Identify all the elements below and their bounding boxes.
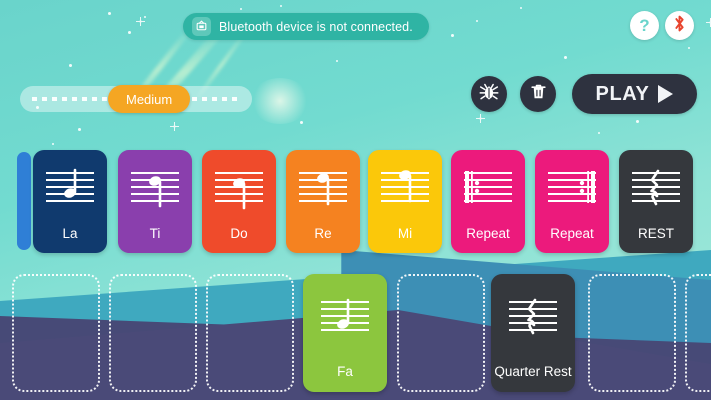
play-triangle-icon [658, 85, 673, 103]
sparkle-icon [476, 114, 485, 123]
palette-card-re[interactable]: Re [286, 150, 360, 253]
palette-card-label: Mi [398, 226, 412, 241]
star-dot [240, 8, 242, 10]
bluetooth-button[interactable] [665, 11, 694, 40]
star-dot [636, 120, 639, 123]
star-dot [564, 56, 567, 59]
sparkle-icon [170, 122, 179, 131]
sequence-slot-label: Fa [337, 364, 353, 379]
sequence-slot-empty[interactable] [206, 274, 294, 392]
palette-card-mi[interactable]: Mi [368, 150, 442, 253]
play-button-label: PLAY [596, 83, 650, 106]
palette-scroll-indicator[interactable] [17, 152, 31, 250]
note-palette[interactable]: La Ti [0, 150, 711, 255]
play-button[interactable]: PLAY [572, 74, 697, 114]
sequence-slot-empty[interactable] [12, 274, 100, 392]
bug-icon [479, 82, 499, 107]
help-button[interactable]: ? [630, 11, 659, 40]
tempo-thumb[interactable]: Medium [108, 85, 190, 113]
comet-glow [250, 78, 310, 124]
staff-notation [619, 163, 693, 215]
star-dot [280, 5, 282, 7]
bluetooth-device-icon [192, 17, 211, 36]
staff-notation [491, 292, 575, 344]
staff-notation [286, 163, 360, 215]
tempo-slider[interactable]: Medium [20, 86, 252, 112]
palette-card-label: Ti [150, 226, 161, 241]
staff-notation [535, 163, 609, 215]
toast-message: Bluetooth device is not connected. [219, 20, 413, 34]
staff-notation [202, 163, 276, 215]
sequence-slot-empty[interactable] [109, 274, 197, 392]
staff-notation [303, 292, 387, 344]
palette-card-label: Re [314, 226, 331, 241]
sequence-slot-empty[interactable] [588, 274, 676, 392]
palette-card-repeat-start[interactable]: Repeat [451, 150, 525, 253]
palette-card-label: REST [638, 226, 674, 241]
sequence-slot-empty[interactable] [397, 274, 485, 392]
staff-notation [451, 163, 525, 215]
palette-card-repeat-end[interactable]: Repeat [535, 150, 609, 253]
star-dot [78, 128, 81, 131]
question-mark-icon: ? [639, 17, 649, 34]
star-dot [451, 34, 454, 37]
palette-card-label: La [62, 226, 77, 241]
star-dot [108, 12, 111, 15]
sequence-track[interactable]: Fa ✕ Quarter Rest ✕ [0, 266, 711, 400]
palette-card-do[interactable]: Do [202, 150, 276, 253]
staff-notation [33, 163, 107, 215]
sparkle-icon [136, 17, 145, 26]
palette-card-label: Repeat [550, 226, 594, 241]
star-dot [128, 31, 131, 34]
delete-all-button[interactable] [520, 76, 556, 112]
staff-notation [368, 163, 442, 215]
tempo-value: Medium [126, 92, 172, 107]
star-dot [300, 121, 303, 124]
star-dot [688, 47, 690, 49]
trash-icon [529, 82, 548, 106]
palette-card-rest[interactable]: REST [619, 150, 693, 253]
palette-card-label: Do [230, 226, 247, 241]
star-dot [52, 143, 54, 145]
bluetooth-icon [671, 14, 688, 38]
star-dot [69, 64, 72, 67]
star-dot [336, 60, 338, 62]
sequence-slot-filled-quarter-rest[interactable]: Quarter Rest [491, 274, 575, 392]
star-dot [520, 7, 522, 9]
sequence-slot-filled-fa[interactable]: Fa [303, 274, 387, 392]
star-dot [476, 20, 478, 22]
sparkle-icon [706, 18, 711, 27]
star-dot [598, 132, 600, 134]
debug-button[interactable] [471, 76, 507, 112]
palette-card-ti[interactable]: Ti [118, 150, 192, 253]
sequence-slot-empty[interactable] [685, 274, 711, 392]
sequence-slot-label: Quarter Rest [494, 364, 571, 379]
palette-card-la[interactable]: La [33, 150, 107, 253]
staff-notation [118, 163, 192, 215]
bluetooth-status-toast: Bluetooth device is not connected. [183, 13, 429, 40]
palette-card-label: Repeat [466, 226, 510, 241]
